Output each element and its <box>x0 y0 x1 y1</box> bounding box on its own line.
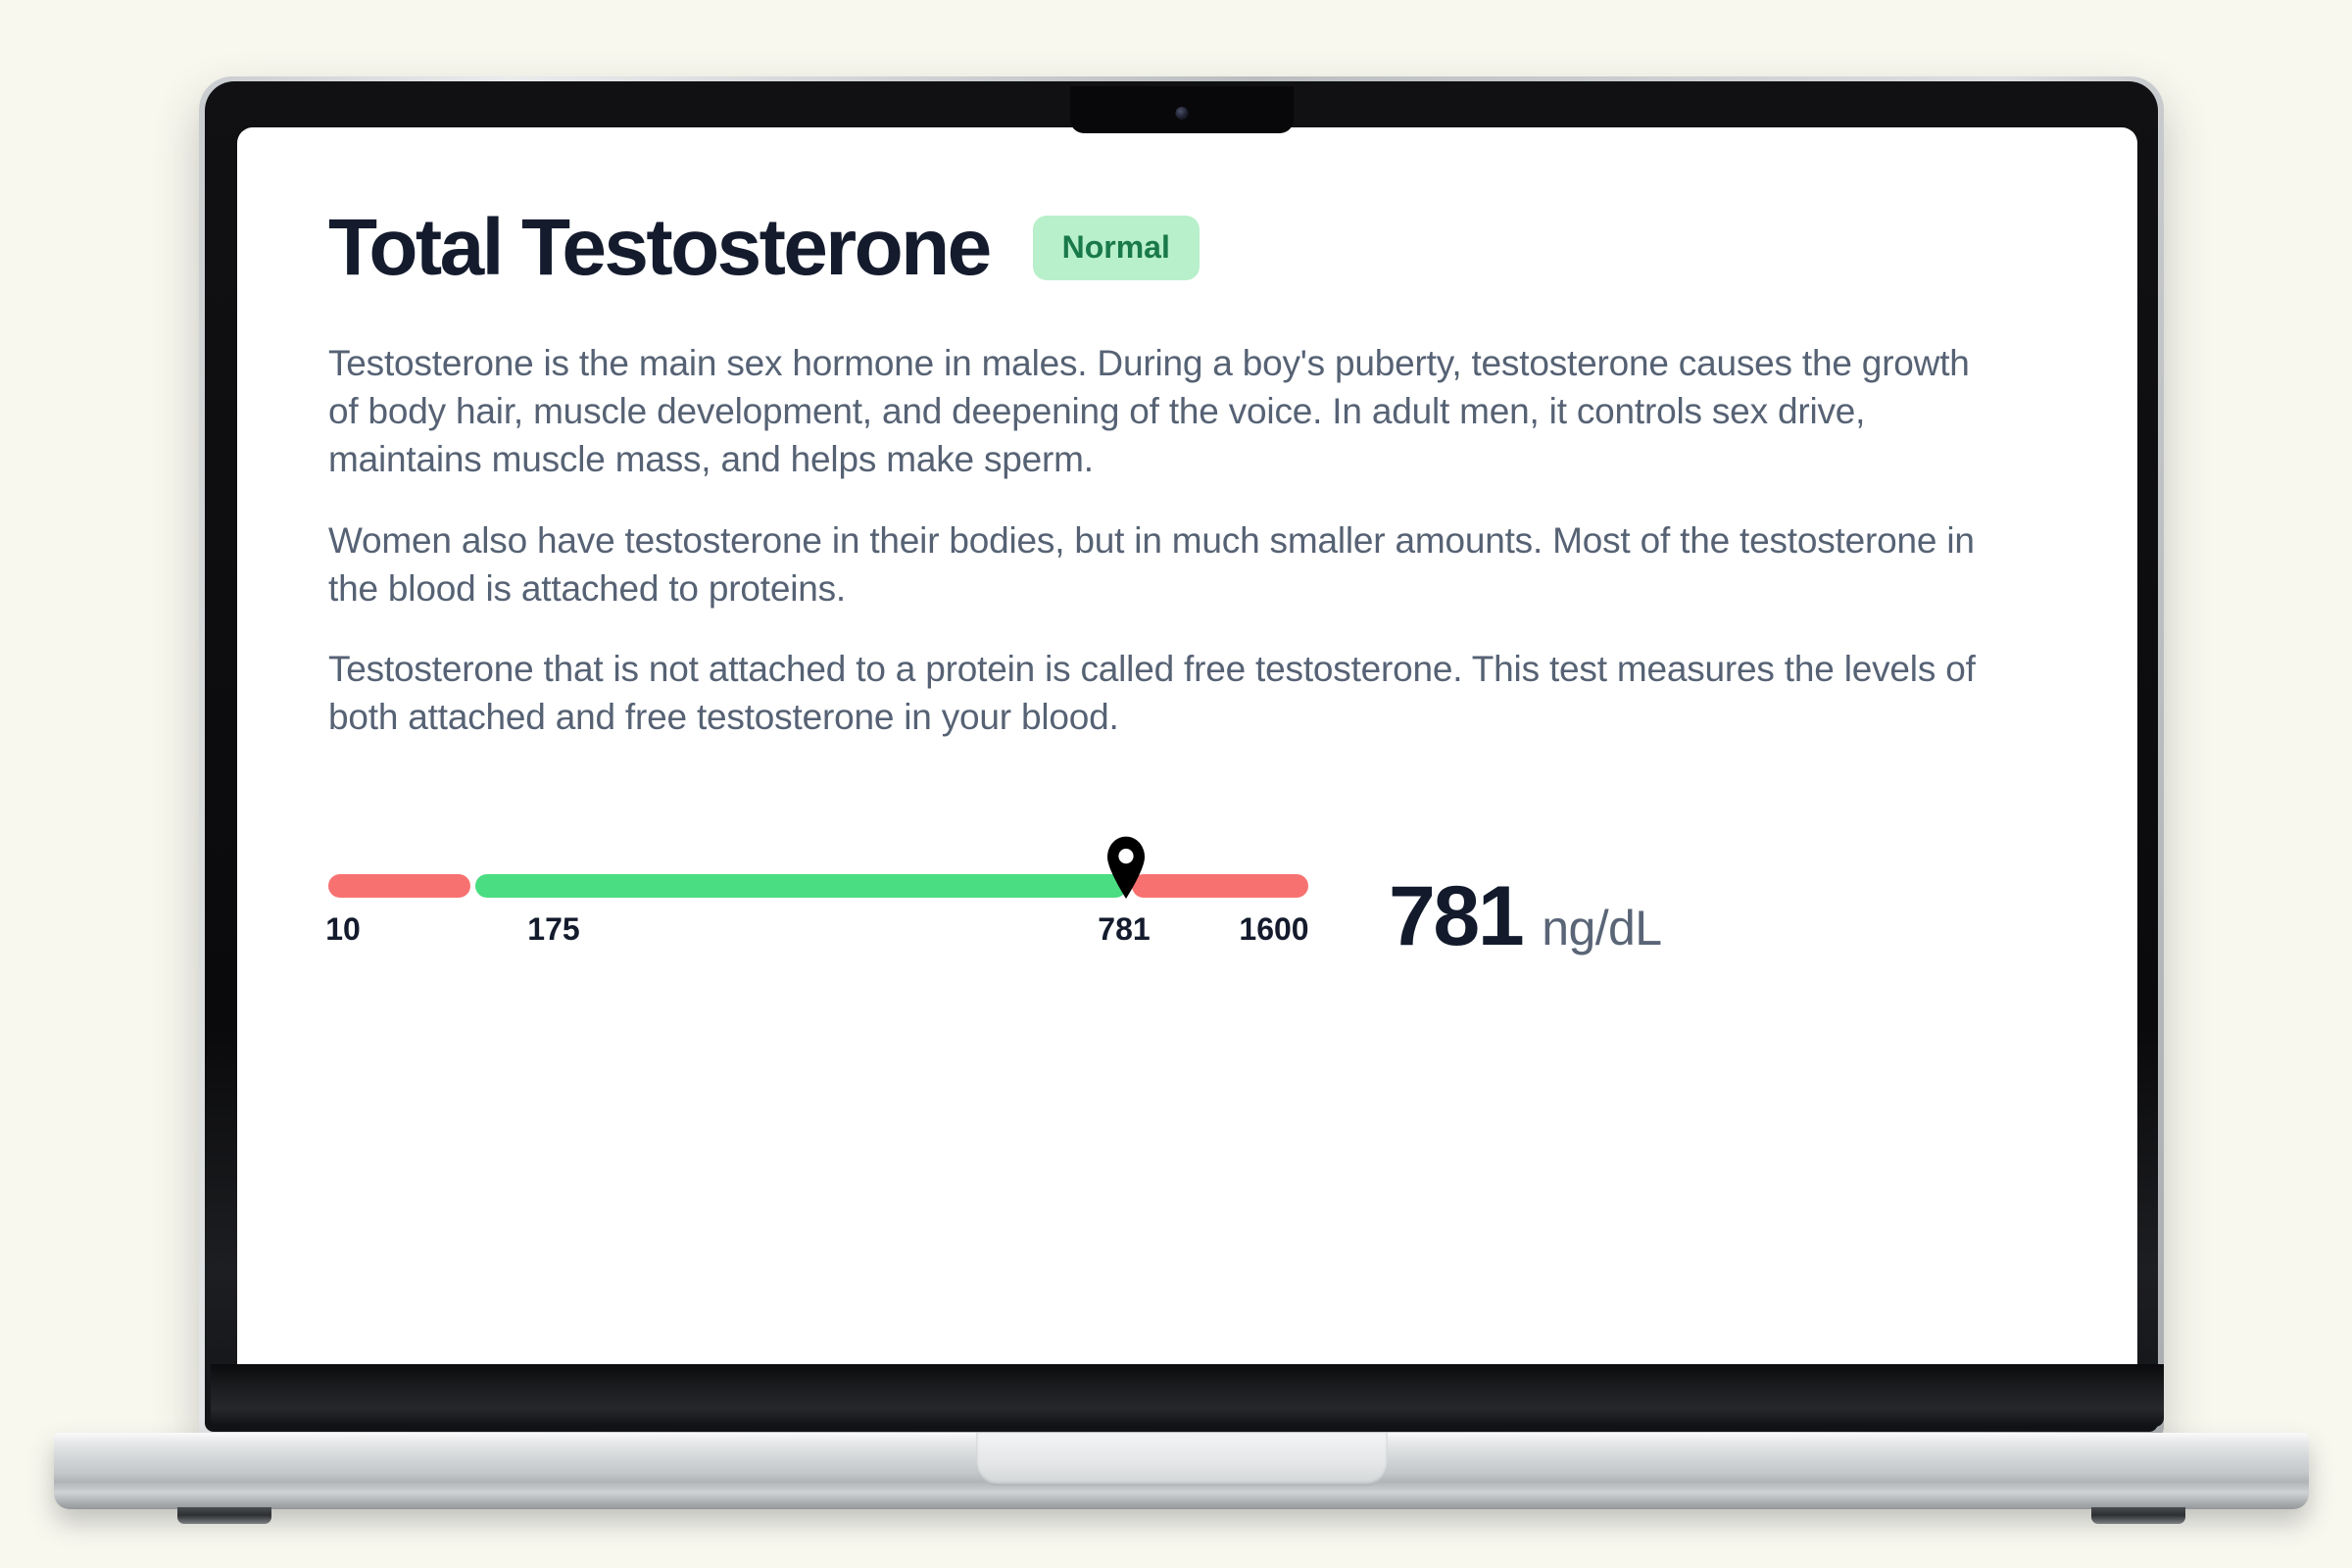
gauge-tick-label-1: 175 <box>527 911 579 948</box>
gauge-tick-label-2: 781 <box>1098 911 1150 948</box>
description-paragraph-1: Testosterone is the main sex hormone in … <box>328 339 1994 484</box>
laptop-base <box>54 1433 2309 1537</box>
description-paragraph-3: Testosterone that is not attached to a p… <box>328 645 1994 741</box>
gauge-segment-normal <box>475 874 1127 898</box>
base-slab <box>54 1433 2309 1509</box>
gauge-segment-high <box>1132 874 1308 898</box>
map-pin-marker-icon <box>1104 836 1148 899</box>
description-paragraph-2: Women also have testosterone in their bo… <box>328 516 1994 612</box>
camera-dot-icon <box>1175 107 1188 120</box>
gauge-bar <box>328 874 1308 898</box>
base-foot-right <box>2091 1507 2185 1524</box>
base-center-notch <box>976 1433 1388 1486</box>
page-title: Total Testosterone <box>328 202 990 294</box>
result-value: 781 <box>1389 868 1522 965</box>
description-block: Testosterone is the main sex hormone in … <box>328 339 1994 741</box>
reference-range-gauge: 10 175 781 1600 781 ng/dL <box>328 817 1994 965</box>
base-foot-left <box>177 1507 271 1524</box>
laptop-screen: Total Testosterone Normal Testosterone i… <box>237 127 2137 1370</box>
gauge-tick-labels: 10 175 781 1600 <box>328 911 1308 956</box>
laptop-mockup: Total Testosterone Normal Testosterone i… <box>199 76 2164 1439</box>
title-row: Total Testosterone Normal <box>328 202 1994 294</box>
gauge-readout: 781 ng/dL <box>1389 817 1661 965</box>
gauge-segment-low <box>328 874 470 898</box>
gauge-tick-label-3: 1600 <box>1239 911 1308 948</box>
gauge-tick-label-0: 10 <box>325 911 361 948</box>
result-unit: ng/dL <box>1542 900 1661 956</box>
bezel-chin <box>211 1364 2164 1427</box>
laptop-bezel: Total Testosterone Normal Testosterone i… <box>205 81 2158 1432</box>
lab-result-panel: Total Testosterone Normal Testosterone i… <box>328 202 1994 965</box>
laptop-lid: Total Testosterone Normal Testosterone i… <box>199 76 2164 1439</box>
status-badge: Normal <box>1033 216 1200 280</box>
gauge-track-wrap: 10 175 781 1600 <box>328 817 1308 956</box>
